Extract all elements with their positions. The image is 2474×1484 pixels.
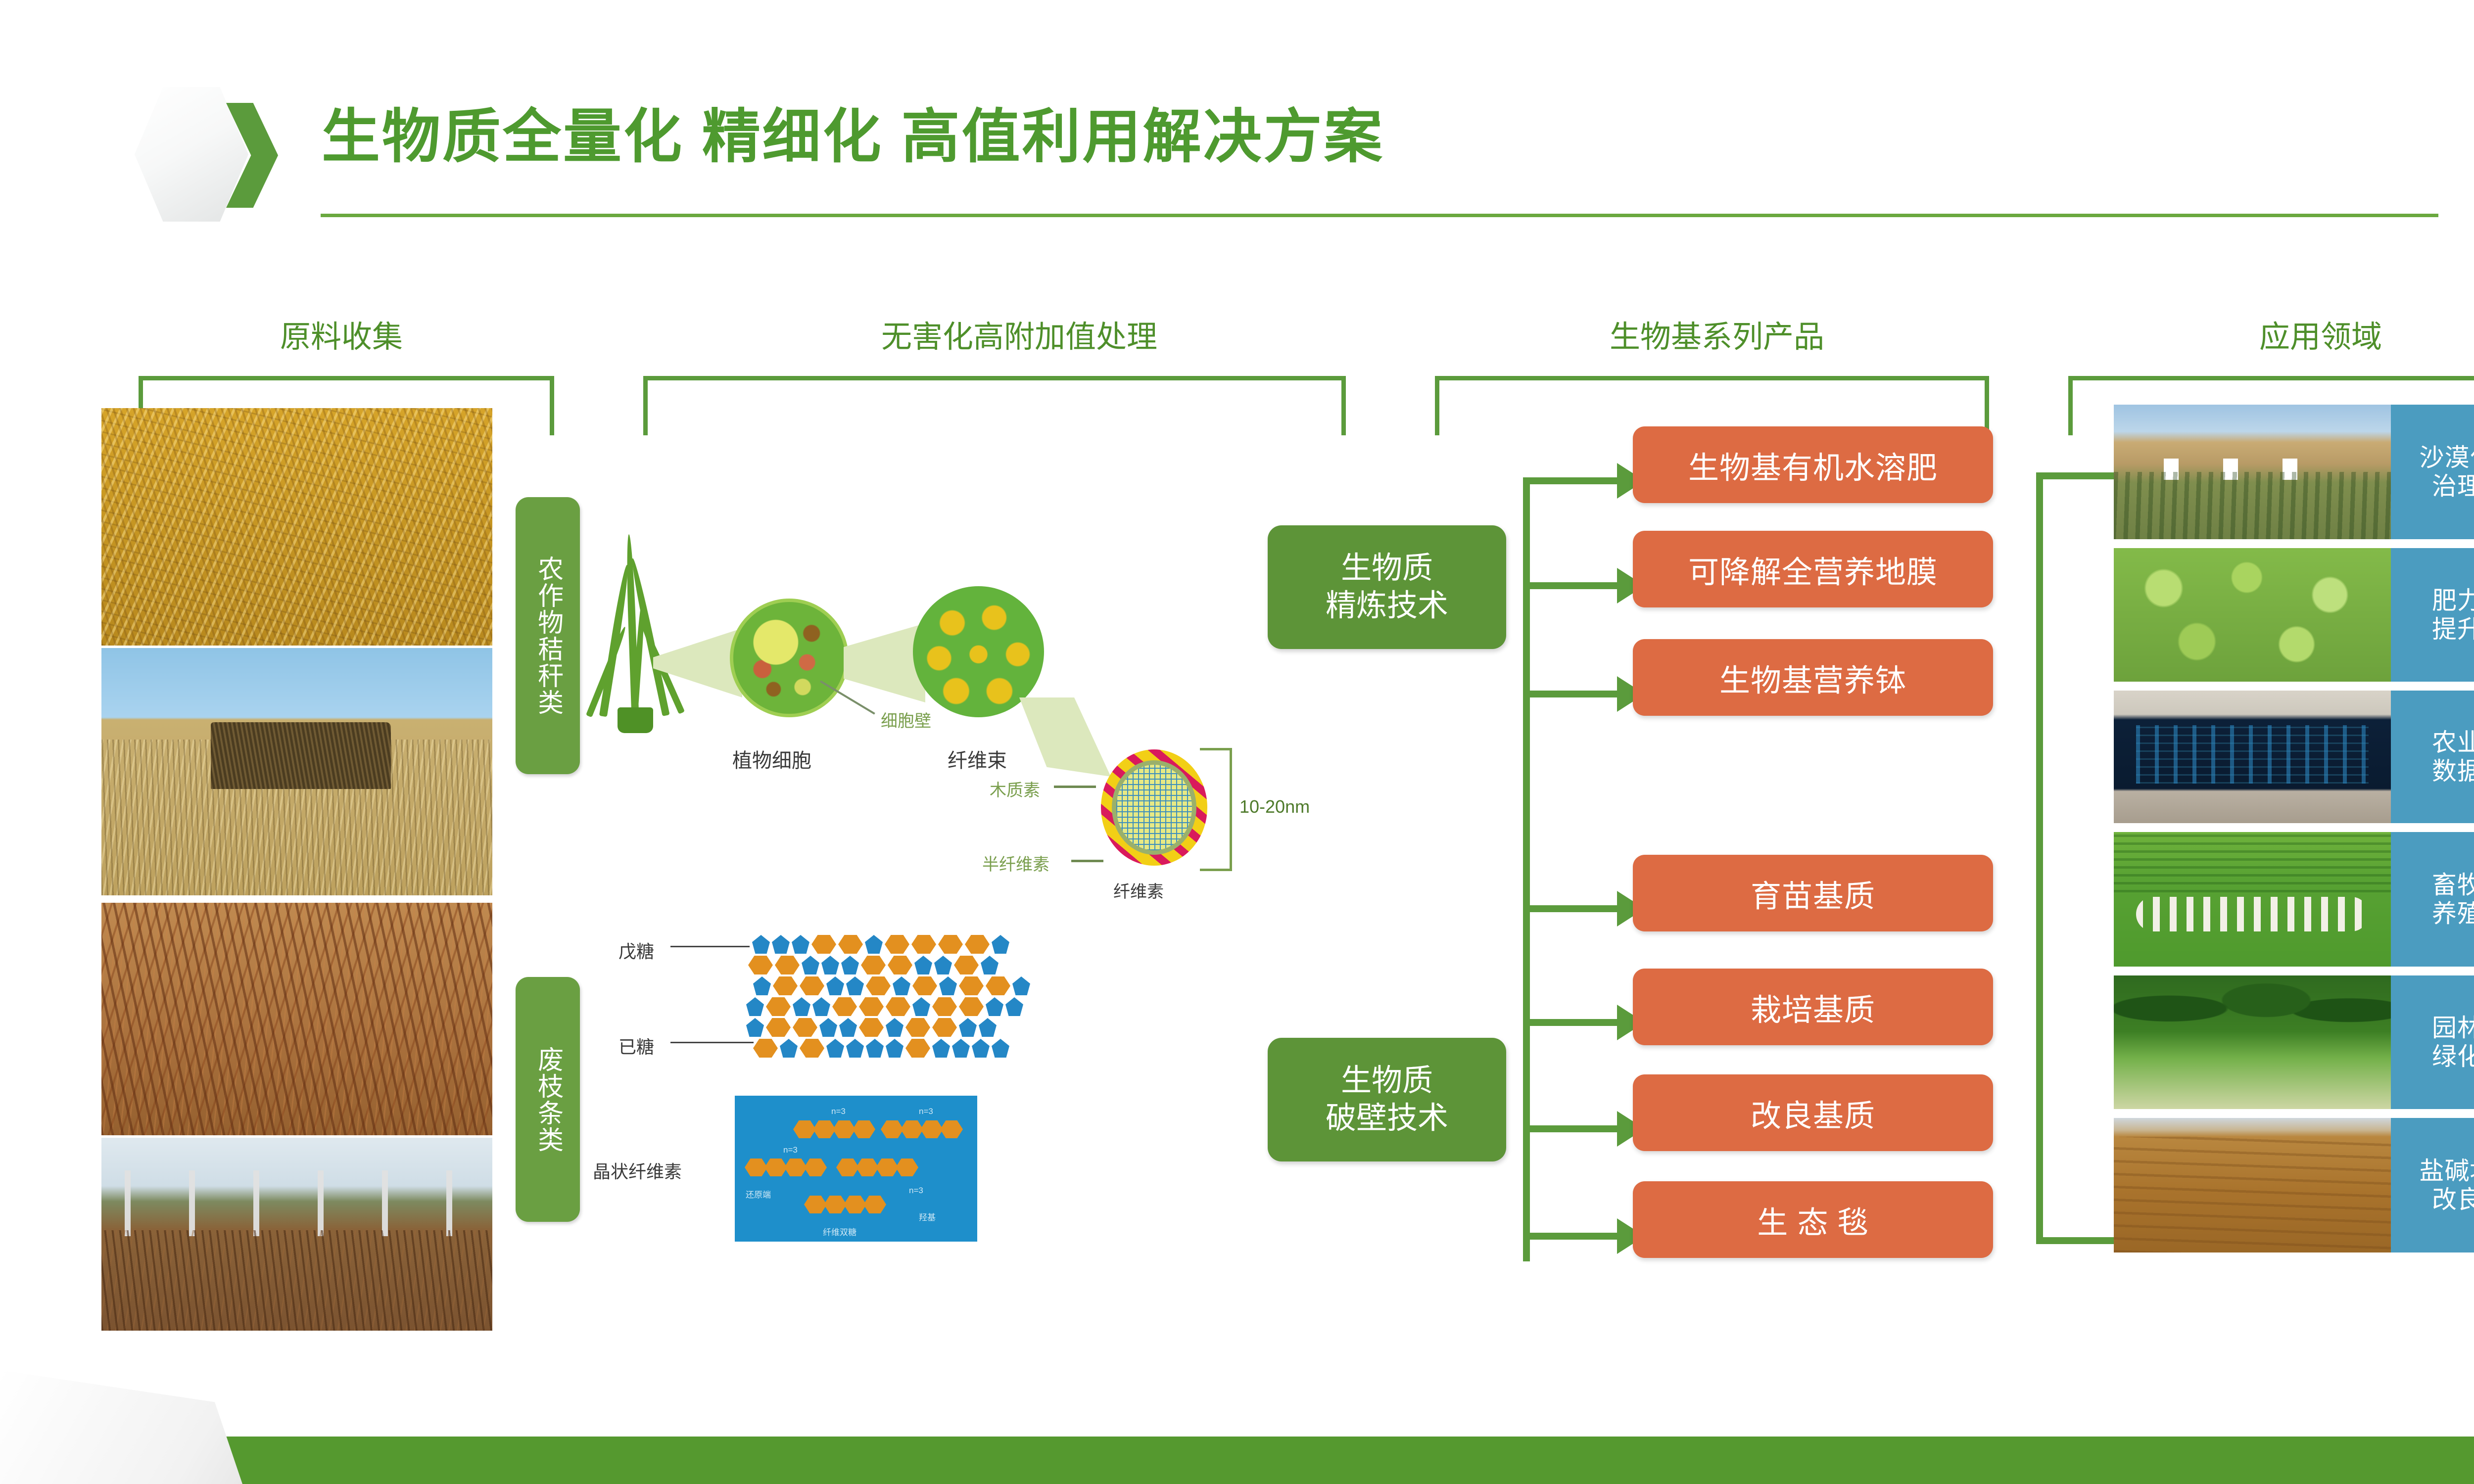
connector-applications-trunk [2036, 472, 2043, 1244]
label-crystalline-cellulose: 晶状纤维素 [593, 1158, 682, 1183]
leader-line-hexose [670, 1042, 754, 1043]
tech-box-biomass-refining[interactable]: 生物质 精炼技术 [1268, 525, 1506, 649]
label-pentose: 戊糖 [618, 937, 654, 963]
biomass-structure-diagram: 细胞壁 植物细胞 纤维束 木质素 半纤维素 纤维素 10-20nm [584, 475, 1376, 1355]
photo-cabbage-field [2114, 548, 2391, 682]
dimension-line-vertical [1230, 748, 1232, 871]
photo-corn-straw-field [101, 408, 492, 646]
photo-dry-branches [101, 903, 492, 1135]
hexagon-chevron-logo-icon [135, 83, 283, 227]
application-label-desertification-control[interactable]: 沙漠化 治理 [2391, 405, 2474, 539]
connector-branch-refining-1 [1523, 477, 1617, 484]
photo-straw-bale-field [101, 648, 492, 895]
section-title-products: 生物基系列产品 [1430, 312, 2004, 356]
annotation-cellobiose: 纤维双糖 [823, 1225, 856, 1238]
label-hexose: 已糖 [618, 1033, 654, 1059]
connector-branch-wb-3 [1523, 1125, 1617, 1132]
dimension-tick-top [1200, 748, 1232, 750]
photo-desert-restoration [2114, 405, 2391, 539]
photo-sheep-pasture [2114, 832, 2391, 967]
cellulose-nanofiber-illustration [1101, 749, 1207, 866]
connector-branch-wb-1 [1523, 905, 1617, 912]
app-line-2: 治理 [2432, 472, 2474, 501]
product-box-seedling-substrate[interactable]: 育苗基质 [1633, 855, 1993, 931]
sugar-chain-illustration [737, 935, 1059, 1059]
app-line-1: 肥力 [2432, 586, 2474, 615]
tech-line-1: 生物质 [1341, 1062, 1433, 1100]
application-label-livestock-breeding[interactable]: 畜牧 养殖 [2391, 832, 2474, 967]
product-box-degradable-nutrient-mulch-film[interactable]: 可降解全营养地膜 [1633, 531, 1993, 607]
connector-branch-refining-2 [1523, 582, 1617, 589]
bracket-processing [643, 376, 1346, 435]
footer-bar [0, 1437, 2474, 1484]
photo-agriculture-data-center [2114, 691, 2391, 823]
product-box-improvement-substrate[interactable]: 改良基质 [1633, 1074, 1993, 1151]
dimension-tick-bottom [1200, 869, 1232, 871]
title-divider [321, 214, 2438, 217]
annotation-n3-a: n=3 [831, 1107, 846, 1116]
connector-branch-wb-2 [1523, 1019, 1617, 1026]
photo-park-landscape [2114, 975, 2391, 1109]
tech-line-2: 精炼技术 [1326, 587, 1448, 625]
product-box-bio-nutrient-pot[interactable]: 生物基营养钵 [1633, 639, 1993, 716]
application-label-fertility-improvement[interactable]: 肥力 提升 [2391, 548, 2474, 682]
app-line-2: 数据 [2432, 757, 2474, 786]
product-box-bio-water-soluble-fertilizer[interactable]: 生物基有机水溶肥 [1633, 426, 1993, 503]
tech-box-biomass-wall-breaking[interactable]: 生物质 破壁技术 [1268, 1038, 1506, 1161]
annotation-reducing-end: 还原端 [746, 1188, 771, 1200]
label-cell-wall: 细胞壁 [881, 707, 931, 732]
section-title-applications: 应用领域 [2098, 312, 2474, 356]
tech-line-1: 生物质 [1341, 550, 1433, 587]
leader-line-hemicellulose [1071, 860, 1103, 862]
section-title-processing: 无害化高附加值处理 [648, 312, 1390, 356]
app-line-1: 盐碱地 [2420, 1157, 2474, 1185]
photo-saline-alkali-land [2114, 1118, 2391, 1252]
annotation-n3-b: n=3 [919, 1107, 933, 1116]
connector-trunk-refining [1523, 477, 1530, 972]
connector-trunk-wall-breaking [1523, 905, 1530, 1261]
category-pill-waste-branch: 废枝条类 [516, 977, 580, 1222]
app-line-2: 绿化 [2432, 1042, 2474, 1071]
photo-pruned-vineyard [101, 1138, 492, 1331]
label-nanofiber-dimension: 10-20nm [1239, 796, 1310, 817]
label-cellulose: 纤维素 [1113, 878, 1164, 902]
beam-cell-to-fiber [844, 623, 925, 702]
category-pill-crop-straw: 农作物秸秆类 [516, 497, 580, 774]
app-line-1: 畜牧 [2432, 871, 2474, 899]
label-lignin: 木质素 [990, 777, 1040, 801]
page-title: 生物质全量化 精细化 高值利用解决方案 [322, 89, 1384, 174]
section-title-raw-material-collection: 原料收集 [153, 312, 529, 356]
plant-cell-illustration [730, 599, 849, 717]
label-plant-cell: 植物细胞 [732, 744, 811, 773]
label-hemicellulose: 半纤维素 [982, 851, 1049, 875]
application-label-saline-alkali-improvement[interactable]: 盐碱地 改良 [2391, 1118, 2474, 1252]
annotation-n3-c: n=3 [783, 1145, 798, 1155]
connector-branch-wb-4 [1523, 1233, 1617, 1240]
application-label-landscape-greening[interactable]: 园林 绿化 [2391, 975, 2474, 1109]
app-line-2: 改良 [2432, 1185, 2474, 1214]
product-box-cultivation-substrate[interactable]: 栽培基质 [1633, 969, 1993, 1045]
page-header: 生物质全量化 精细化 高值利用解决方案 [0, 0, 2474, 232]
annotation-n3-d: n=3 [909, 1186, 923, 1196]
tech-line-2: 破壁技术 [1326, 1100, 1448, 1137]
leader-line-lignin [1054, 786, 1096, 788]
product-box-ecological-blanket[interactable]: 生 态 毯 [1633, 1181, 1993, 1258]
label-fiber-bundle: 纤维束 [948, 744, 1007, 773]
crystalline-cellulose-panel: n=3 n=3 n=3 n=3 还原端 纤维双糖 羟基 [735, 1096, 977, 1242]
connector-branch-refining-3 [1523, 691, 1617, 697]
annotation-hydroxyl: 羟基 [919, 1210, 936, 1223]
app-line-2: 提升 [2432, 615, 2474, 644]
app-line-2: 养殖 [2432, 899, 2474, 928]
app-line-1: 园林 [2432, 1014, 2474, 1042]
app-line-1: 沙漠化 [2420, 443, 2474, 472]
application-label-agriculture-data[interactable]: 农业 数据 [2391, 691, 2474, 823]
beam-fiber-to-nano [1019, 697, 1111, 777]
leader-line-pentose [670, 946, 750, 947]
app-line-1: 农业 [2432, 728, 2474, 757]
